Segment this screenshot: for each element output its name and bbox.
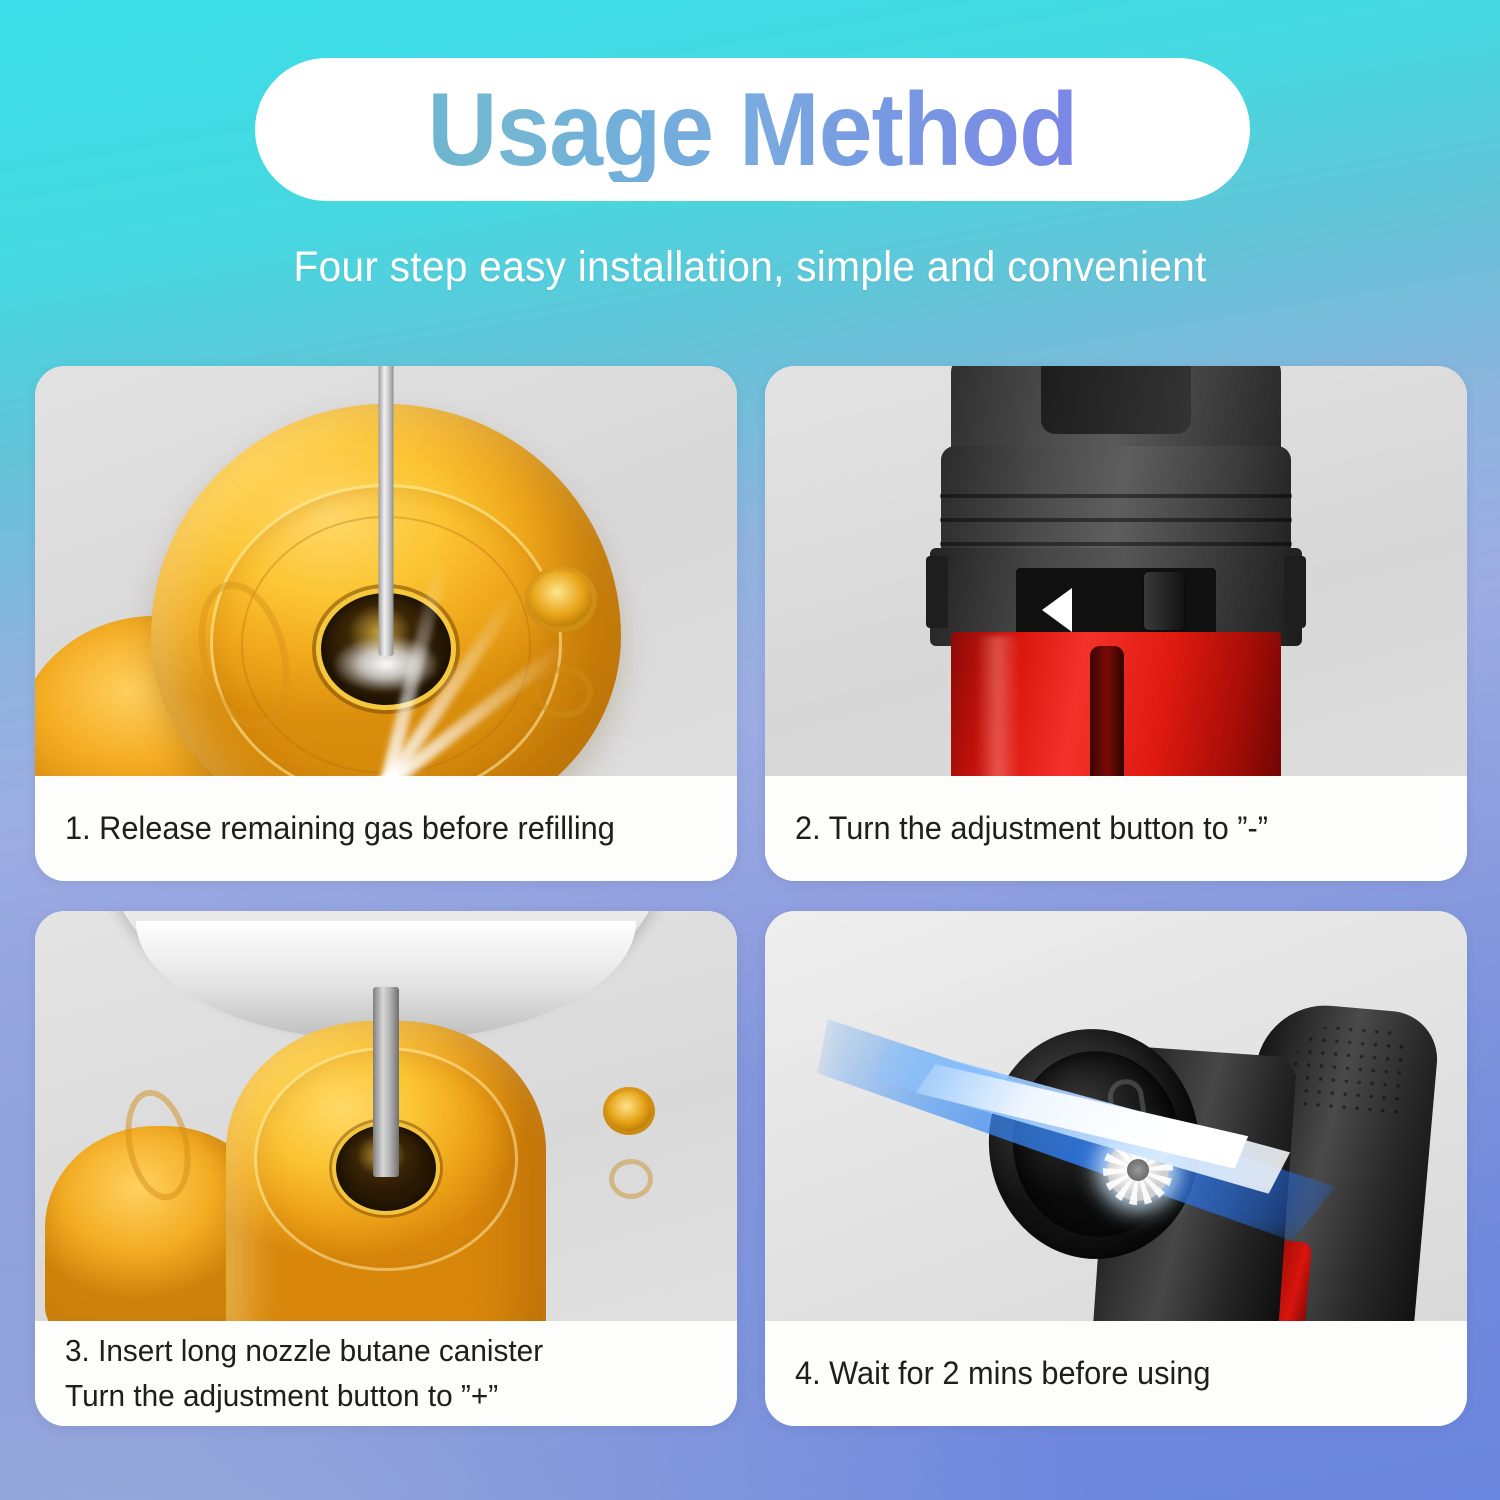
step-card-3: 3. Insert long nozzle butane canister Tu… [35,911,737,1426]
steps-grid: 1. Release remaining gas before refillin… [35,366,1467,1466]
canister-embossed-dimple [603,1087,655,1135]
torch-body-groove [1090,646,1124,776]
title-pill: Usage Method [255,58,1250,201]
nozzle-core [1127,1159,1149,1181]
step-card-2: 2. Turn the adjustment button to ”-” [765,366,1467,881]
step-caption-1: 1. Release remaining gas before refillin… [35,776,737,881]
step-caption-text: 4. Wait for 2 mins before using [795,1351,1210,1396]
canister-embossed-mark [609,1159,653,1199]
step-card-1: 1. Release remaining gas before refillin… [35,366,737,881]
step-caption-4: 4. Wait for 2 mins before using [765,1321,1467,1426]
torch-ridge [940,542,1292,546]
step-caption-text: 2. Turn the adjustment button to ”-” [795,806,1268,851]
arrow-left-icon [1042,588,1072,632]
torch-body-highlight [976,636,1020,776]
torch-ridge [940,494,1292,498]
step-caption-2: 2. Turn the adjustment button to ”-” [765,776,1467,881]
adjustment-collar-minus-photo [765,366,1467,776]
page-title: Usage Method [428,78,1078,182]
lit-torch-blue-flame-photo [765,911,1467,1321]
insert-nozzle-canister-photo [35,911,737,1321]
step-card-4: 4. Wait for 2 mins before using [765,911,1467,1426]
step-caption-3: 3. Insert long nozzle butane canister Tu… [35,1321,737,1426]
release-rod [379,366,394,656]
torch-head-slot [1041,366,1191,434]
canister-embossed-dimple [525,566,597,632]
adjustment-lever[interactable] [1144,572,1184,630]
gas-canister-venting-photo [35,366,737,776]
page-subtitle: Four step easy installation, simple and … [38,243,1463,292]
long-nozzle [373,987,399,1177]
collar-tab-left [926,556,948,628]
step-caption-text: 3. Insert long nozzle butane canister Tu… [65,1329,543,1417]
collar-tab-right [1284,556,1306,628]
canister-embossed-mark [535,666,593,718]
torch-ridge [940,518,1292,522]
step-caption-text: 1. Release remaining gas before refillin… [65,806,615,851]
